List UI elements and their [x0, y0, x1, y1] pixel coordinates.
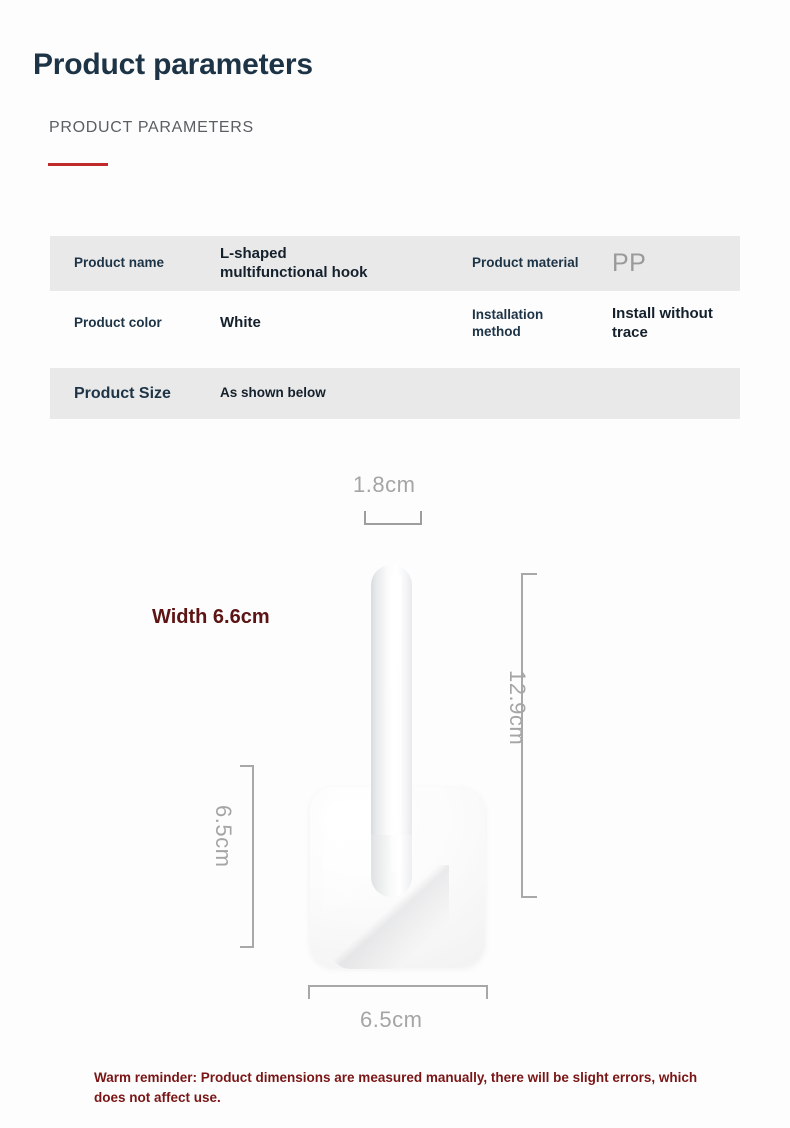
spec-value-product-size: As shown below	[220, 385, 326, 401]
product-dimension-diagram: 1.8cm 12.9cm 6.5cm 6.5cm Width 6.6cm	[0, 440, 790, 1050]
spec-value-product-color: White	[220, 314, 261, 332]
width-callout-label: Width 6.6cm	[152, 606, 270, 629]
hook-product-illustration	[305, 565, 495, 985]
spec-value-installation-method: Install without trace	[612, 305, 713, 342]
dimension-label-bottom: 6.5cm	[360, 1007, 422, 1033]
table-row: Product name L-shaped multifunctional ho…	[50, 236, 740, 291]
dimension-bracket-top-icon	[364, 511, 422, 525]
table-row: Product color White Installation method …	[50, 291, 740, 356]
spec-label-product-material: Product material	[472, 255, 579, 272]
table-row: Product Size As shown below	[50, 368, 740, 419]
spec-value-product-material: PP	[612, 248, 646, 279]
dimension-label-left: 6.5cm	[210, 805, 236, 867]
product-spec-table: Product name L-shaped multifunctional ho…	[50, 236, 740, 419]
spec-label-product-color: Product color	[74, 315, 162, 332]
dimension-label-top: 1.8cm	[353, 472, 415, 498]
page-subtitle: PRODUCT PARAMETERS	[49, 119, 254, 137]
spec-label-product-name: Product name	[74, 255, 164, 272]
spec-label-product-size: Product Size	[74, 384, 171, 404]
spec-value-product-name: L-shaped multifunctional hook	[220, 245, 368, 282]
dimension-bracket-bottom-icon	[308, 985, 488, 999]
dimension-label-right: 12.9cm	[504, 670, 530, 745]
title-accent-rule	[48, 163, 108, 166]
dimension-bracket-left-icon	[240, 765, 254, 948]
page-title: Product parameters	[33, 48, 313, 82]
warning-note: Warm reminder: Product dimensions are me…	[94, 1068, 704, 1109]
hook-arm-highlight	[391, 573, 402, 873]
spec-label-installation-method: Installation method	[472, 307, 543, 341]
